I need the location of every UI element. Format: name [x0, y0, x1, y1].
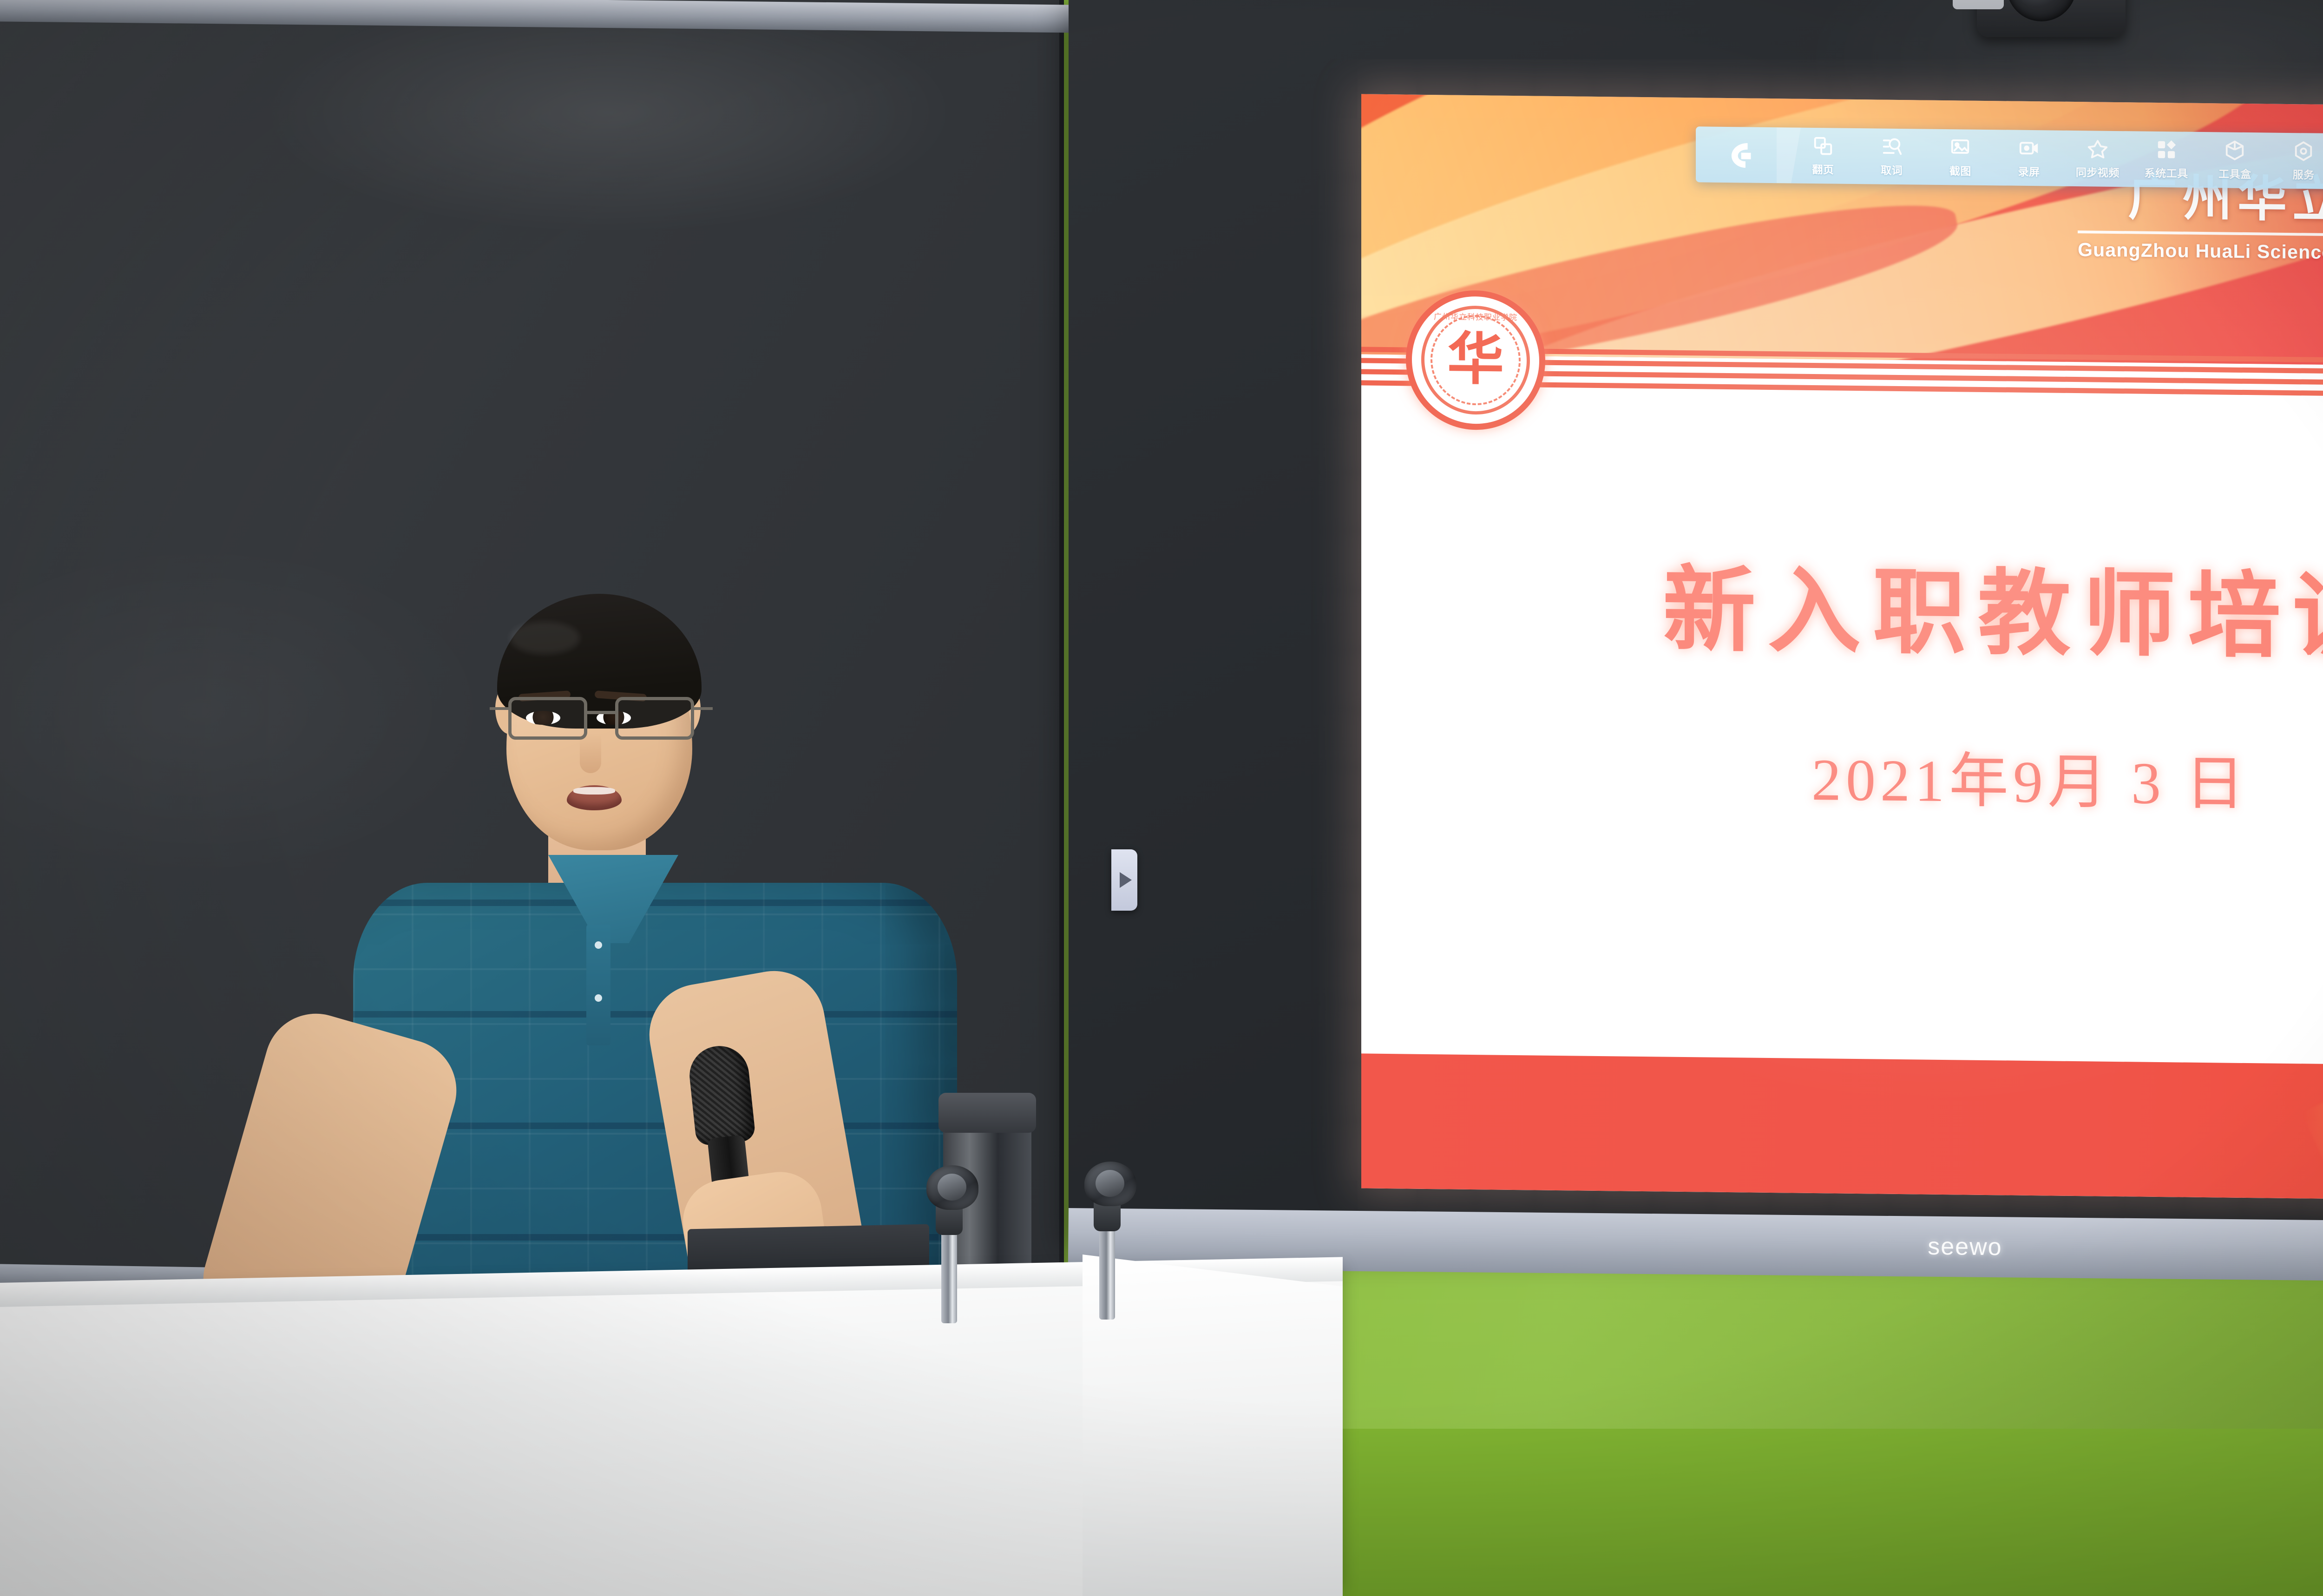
- seewo-logo-icon[interactable]: [1696, 126, 1789, 183]
- camera-lens-icon: [2007, 0, 2076, 21]
- toolbar-label: 同步视频: [2076, 164, 2120, 180]
- college-name-divider: [2078, 230, 2323, 240]
- slide-footer-banner: [1361, 1053, 2323, 1202]
- side-panel-expand-button[interactable]: [1111, 849, 1137, 911]
- slide-date: 2021年9月 3 日: [1361, 726, 2323, 826]
- seewo-toolbar[interactable]: 翻页 取词 截图: [1696, 126, 2323, 189]
- seal-ring-text: 广州华立科技职业学院: [1412, 310, 1539, 323]
- slide-body: 新入职教师培训 2021年9月 3 日: [1361, 391, 2323, 1063]
- thermos-cap: [938, 1093, 1036, 1133]
- footer-light-streak: [2301, 1053, 2323, 1202]
- toolbar-item-service[interactable]: 服务: [2273, 140, 2323, 182]
- presenter-nose: [580, 733, 601, 773]
- gear-icon: [2293, 140, 2314, 164]
- camera-mount: [1953, 0, 2004, 9]
- toolbar-item-search[interactable]: 取词: [1862, 136, 1922, 177]
- toolbar-label: 录屏: [2018, 163, 2040, 179]
- toolbar-item-pages[interactable]: 翻页: [1793, 135, 1853, 177]
- play-triangle-icon: [1120, 872, 1132, 888]
- apps-icon: [2156, 138, 2177, 162]
- toolbar-label: 系统工具: [2145, 164, 2188, 180]
- camera-module: [1977, 0, 2126, 37]
- slide-title: 新入职教师培训: [1361, 531, 2323, 680]
- classroom-scene: 广州华立科技职业学院 华 广州华立科技职业学院 GuangZhou HuaLi …: [0, 0, 2323, 1596]
- pages-icon: [1812, 135, 1834, 158]
- microphone-head: [687, 1043, 756, 1146]
- search-icon: [1881, 136, 1903, 159]
- podium-side-face: [1083, 1254, 1343, 1596]
- seewo-brand-label: seewo: [1928, 1233, 2002, 1261]
- image-icon: [1949, 137, 1971, 160]
- toolbar-label: 取词: [1881, 161, 1903, 177]
- glasses-icon: [505, 697, 697, 742]
- cube-icon: [2224, 139, 2245, 163]
- video-icon: [2018, 137, 2040, 161]
- seal-center-char: 华: [1447, 331, 1504, 388]
- presentation-screen[interactable]: 广州华立科技职业学院 华 广州华立科技职业学院 GuangZhou HuaLi …: [1361, 94, 2323, 1202]
- toolbar-item-sync-video[interactable]: 同步视频: [2067, 138, 2128, 179]
- toolbar-label: 服务: [2293, 166, 2315, 182]
- toolbar-label: 截图: [1949, 162, 1971, 178]
- toolbar-label: 工具盒: [2218, 165, 2251, 181]
- microphone-clip-icon: [1084, 1162, 1136, 1206]
- presenter-placket: [586, 925, 610, 1045]
- presenter-mouth: [567, 785, 622, 810]
- microphone-clip-icon: [926, 1165, 978, 1210]
- toolbar-items[interactable]: 翻页 取词 截图: [1789, 135, 2323, 182]
- star-icon: [2087, 138, 2108, 162]
- toolbar-item-system-tools[interactable]: 系统工具: [2136, 138, 2197, 180]
- college-seal: 广州华立科技职业学院 华: [1406, 289, 1545, 430]
- toolbar-label: 翻页: [1812, 160, 1834, 177]
- toolbar-item-toolbox[interactable]: 工具盒: [2205, 139, 2265, 181]
- toolbar-item-record[interactable]: 录屏: [1999, 137, 2059, 179]
- toolbar-item-screenshot[interactable]: 截图: [1930, 136, 1990, 178]
